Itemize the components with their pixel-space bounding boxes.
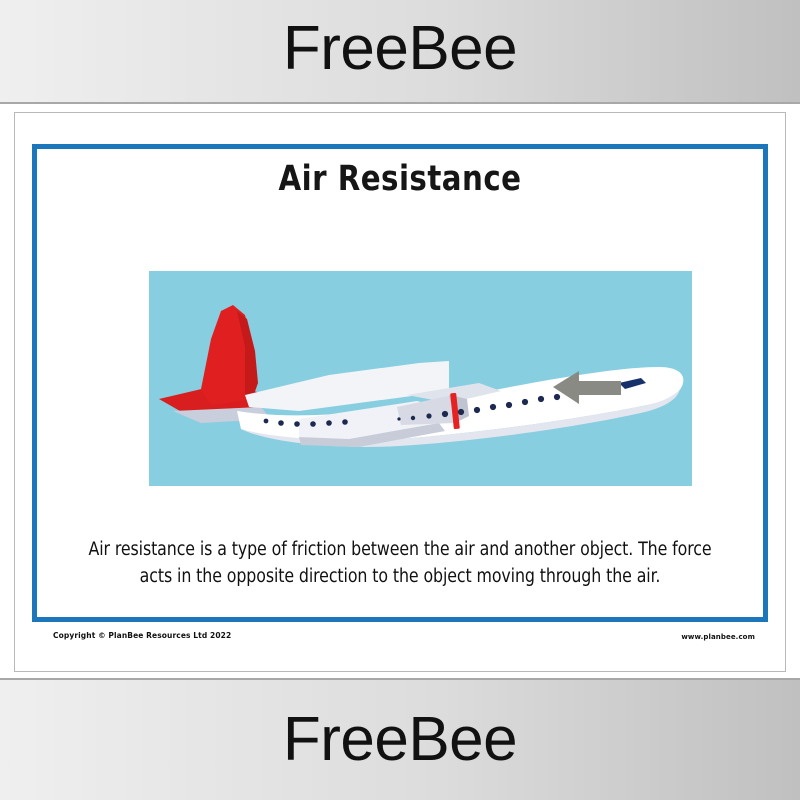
copyright-text: Copyright © PlanBee Resources Ltd 2022 xyxy=(53,631,231,640)
poster-blue-frame: Air Resistance xyxy=(32,144,768,622)
poster-card: Air Resistance xyxy=(14,112,786,672)
freebee-banner-top-label: FreeBee xyxy=(283,18,517,80)
website-text: www.planbee.com xyxy=(681,633,755,641)
description-text: Air resistance is a type of friction bet… xyxy=(87,537,712,591)
poster-page: FreeBee Air Resistance xyxy=(0,0,800,800)
freebee-banner-bottom-label: FreeBee xyxy=(283,709,517,771)
page-title: Air Resistance xyxy=(62,159,737,199)
airplane-svg xyxy=(149,271,692,486)
airplane-illustration xyxy=(149,271,692,486)
freebee-banner-top: FreeBee xyxy=(0,0,800,104)
freebee-banner-bottom: FreeBee xyxy=(0,678,800,800)
